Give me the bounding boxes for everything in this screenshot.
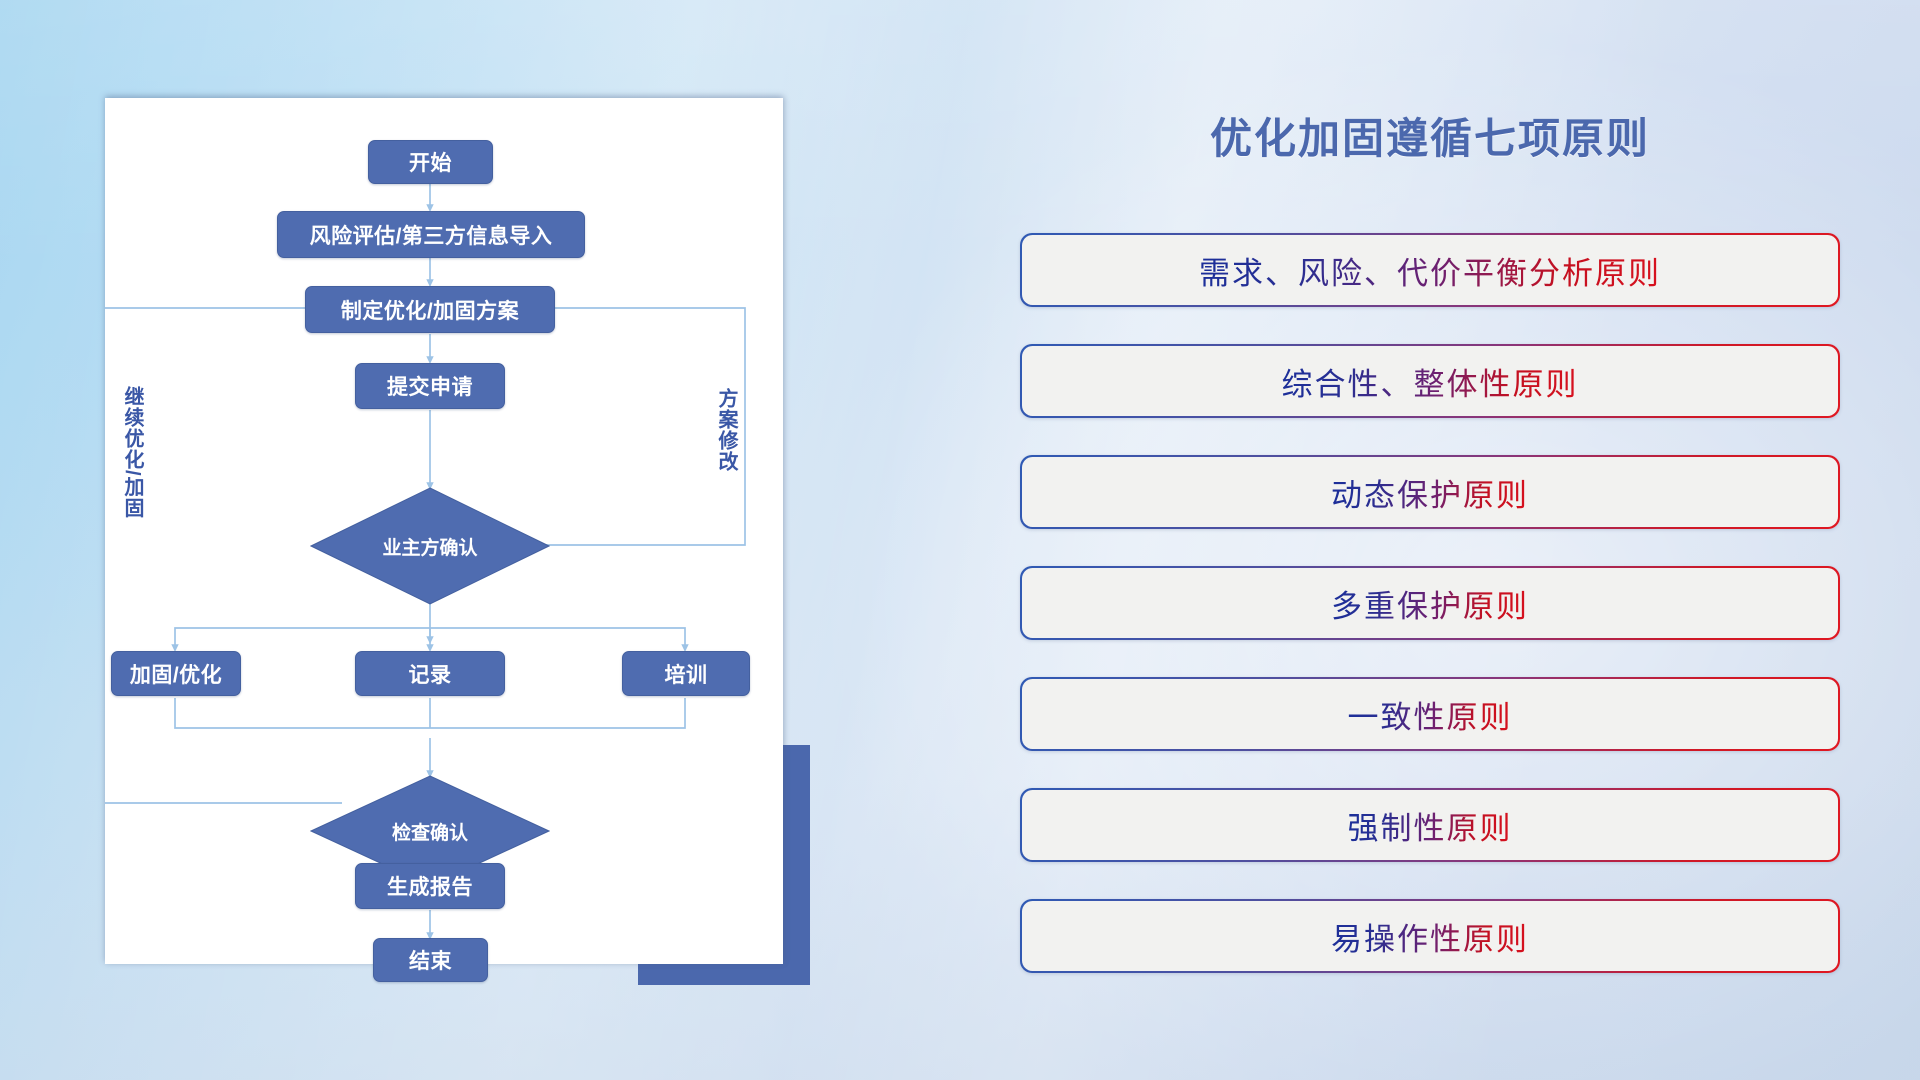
- flow-node-label: 培训: [665, 659, 708, 689]
- principle-label: 多重保护原则: [1331, 581, 1529, 626]
- flow-node-risk-assessment[interactable]: 风险评估/第三方信息导入: [277, 211, 585, 258]
- principle-item-inner: 多重保护原则: [1022, 568, 1839, 639]
- principle-item-inner: 综合性、整体性原则: [1022, 346, 1839, 417]
- principle-label: 易操作性原则: [1331, 914, 1529, 959]
- flow-node-plan[interactable]: 制定优化/加固方案: [305, 286, 555, 333]
- flow-node-generate-report[interactable]: 生成报告: [355, 863, 505, 909]
- flow-node-reinforce-optimize[interactable]: 加固/优化: [111, 651, 241, 696]
- principle-item[interactable]: 易操作性原则: [1020, 899, 1840, 973]
- principle-item-inner: 动态保护原则: [1022, 457, 1839, 528]
- principles-title: 优化加固遵循七项原则: [1020, 105, 1840, 166]
- principles-list: 需求、风险、代价平衡分析原则 综合性、整体性原则 动态保护原则 多重保护原则 一…: [1020, 233, 1840, 1010]
- principle-label: 综合性、整体性原则: [1282, 359, 1579, 404]
- principle-item-inner: 一致性原则: [1022, 679, 1839, 750]
- principle-label: 动态保护原则: [1331, 470, 1529, 515]
- flow-node-submit-application[interactable]: 提交申请: [355, 363, 505, 409]
- principles-panel: 优化加固遵循七项原则 需求、风险、代价平衡分析原则 综合性、整体性原则 动态保护…: [1020, 105, 1840, 1005]
- principle-item-inner: 需求、风险、代价平衡分析原则: [1022, 235, 1839, 306]
- flow-node-label: 加固/优化: [130, 659, 222, 689]
- flow-edge-label-text: 方案修改: [715, 388, 737, 472]
- flow-node-end[interactable]: 结束: [373, 938, 488, 982]
- principle-item[interactable]: 多重保护原则: [1020, 566, 1840, 640]
- principle-label: 需求、风险、代价平衡分析原则: [1199, 248, 1661, 293]
- flow-node-label: 结束: [409, 945, 452, 975]
- flow-node-label: 提交申请: [387, 371, 473, 401]
- flow-node-label: 制定优化/加固方案: [341, 295, 519, 325]
- principle-label: 一致性原则: [1348, 692, 1513, 737]
- principle-item[interactable]: 动态保护原则: [1020, 455, 1840, 529]
- flow-decision-owner-confirm[interactable]: 业主方确认: [310, 487, 550, 605]
- principle-item[interactable]: 需求、风险、代价平衡分析原则: [1020, 233, 1840, 307]
- flow-node-label: 开始: [409, 147, 452, 177]
- principle-label: 强制性原则: [1348, 803, 1513, 848]
- principle-item-inner: 强制性原则: [1022, 790, 1839, 861]
- flow-node-label: 风险评估/第三方信息导入: [310, 220, 553, 250]
- flow-node-start[interactable]: 开始: [368, 140, 493, 184]
- principle-item[interactable]: 综合性、整体性原则: [1020, 344, 1840, 418]
- flow-edge-label-plan-revision: 方案修改: [712, 388, 741, 472]
- principle-item[interactable]: 一致性原则: [1020, 677, 1840, 751]
- flow-edge-label-continue-optimize: 继续优化/加固: [118, 386, 147, 519]
- flow-node-record[interactable]: 记录: [355, 651, 505, 696]
- flow-node-training[interactable]: 培训: [622, 651, 750, 696]
- flow-node-label: 记录: [409, 659, 452, 689]
- flow-node-label: 生成报告: [387, 871, 473, 901]
- principle-item[interactable]: 强制性原则: [1020, 788, 1840, 862]
- principle-item-inner: 易操作性原则: [1022, 901, 1839, 972]
- flowchart-card: 开始 风险评估/第三方信息导入 制定优化/加固方案 提交申请 业主方确认 加固/…: [105, 98, 783, 964]
- flow-edge-label-text: 继续优化/加固: [121, 386, 143, 519]
